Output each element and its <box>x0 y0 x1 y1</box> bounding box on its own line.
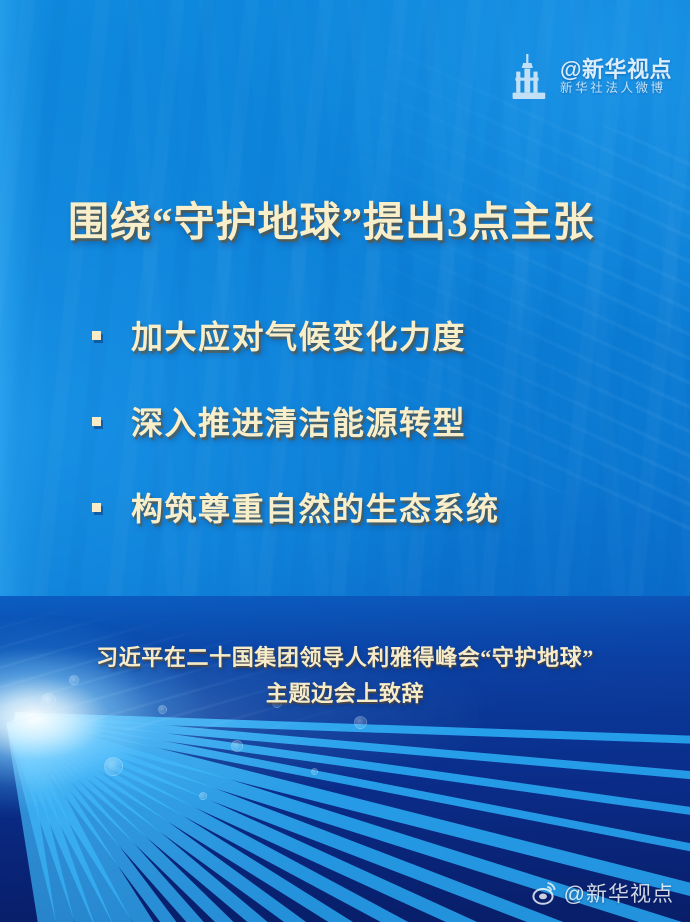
caption-line-1: 习近平在二十国集团领导人利雅得峰会“守护地球” <box>0 640 690 676</box>
logo-main-text: @新华视点 <box>560 58 672 81</box>
square-bullet-icon <box>92 417 101 426</box>
page-title: 围绕“守护地球”提出3点主张 <box>68 188 595 248</box>
claims-list: 加大应对气候变化力度深入推进清洁能源转型构筑尊重自然的生态系统 <box>92 292 612 550</box>
logo-text-block: @新华视点 新华社法人微博 <box>560 58 672 95</box>
poster-canvas: @新华视点 新华社法人微博 围绕“守护地球”提出3点主张 加大应对气候变化力度深… <box>0 0 690 922</box>
weibo-watermark: @新华视点 <box>531 878 674 908</box>
claim-item-label: 构筑尊重自然的生态系统 <box>131 484 500 530</box>
background-left-edge-glow <box>0 0 46 640</box>
bokeh-dot <box>311 768 318 775</box>
logo-sub-text: 新华社法人微博 <box>560 82 672 95</box>
monument-icon <box>506 52 552 102</box>
bokeh-dot <box>231 740 243 752</box>
caption-line-2: 主题边会上致辞 <box>0 676 690 712</box>
claim-item-label: 深入推进清洁能源转型 <box>131 398 466 444</box>
claim-item: 构筑尊重自然的生态系统 <box>92 464 612 550</box>
claim-item-label: 加大应对气候变化力度 <box>131 312 466 358</box>
caption-block: 习近平在二十国集团领导人利雅得峰会“守护地球” 主题边会上致辞 <box>0 640 690 712</box>
square-bullet-icon <box>92 331 101 340</box>
claim-item: 深入推进清洁能源转型 <box>92 378 612 464</box>
bokeh-dot <box>354 716 367 729</box>
bokeh-dot <box>104 757 123 776</box>
claim-item: 加大应对气候变化力度 <box>92 292 612 378</box>
square-bullet-icon <box>92 503 101 512</box>
watermark-text: @新华视点 <box>564 878 674 908</box>
bokeh-dot <box>199 792 207 800</box>
xinhua-logo: @新华视点 新华社法人微博 <box>506 52 672 102</box>
weibo-eye-icon <box>531 880 557 906</box>
